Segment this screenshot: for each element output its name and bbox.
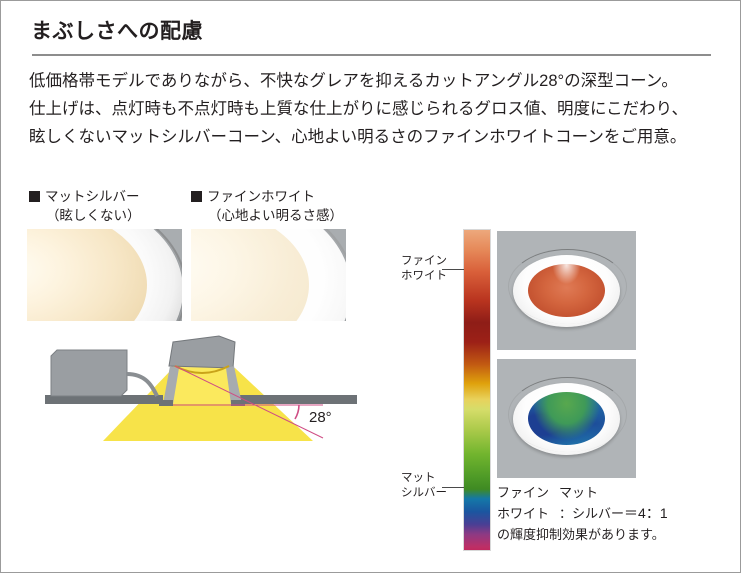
title-divider [32,54,711,56]
page-title: まぶしさへの配慮 [31,15,203,45]
ratio-separator: ： [559,506,572,521]
ratio-note-line-2: ホワイト：シルバー＝4：1 [497,503,732,524]
ratio-note-line-1: ファインマット [497,482,732,503]
lead-line-3: 眩しくないマットシルバーコーン、心地よい明るさのファインホワイトコーンをご用意。 [29,123,719,151]
ratio-col-a-top: ファイン [497,482,559,503]
lead-line-2: 仕上げは、点灯時も不点灯時も上質な仕上がりに感じられるグロス値、明度にこだわり、 [29,95,719,123]
luminance-scale-bar [463,229,491,551]
caption-matte-silver: マットシルバー （眩しくない） [29,187,141,225]
caption-fine-white-label: ファインホワイト [207,189,315,204]
ceiling-slab-right [237,395,357,404]
ratio-value: 4：1 [638,505,668,521]
luminance-photo-fine-white [497,231,636,350]
luminance-photo-matte-silver [497,359,636,478]
scale-label-fine-white-line2: ホワイト [401,269,447,284]
ratio-col-b-bottom: シルバー [572,506,624,521]
caption-fine-white-sublabel: （心地よい明るさ感） [191,206,343,225]
caption-matte-silver-sublabel: （眩しくない） [29,206,141,225]
scale-label-fine-white-line1: ファイン [401,254,447,269]
square-bullet-icon [191,191,202,202]
leader-line-matte-silver [442,487,464,488]
driver-box [51,350,127,396]
leader-line-fine-white [442,269,464,270]
cut-angle-label: 28° [309,409,332,426]
ratio-equals: ＝ [624,505,638,521]
catalog-page: まぶしさへの配慮 低価格帯モデルでありながら、不快なグレアを抑えるカットアングル… [0,0,741,573]
cone-rim-outline [27,229,182,321]
photo-matte-silver-cone [27,229,182,321]
cut-angle-section-diagram: 28° [23,326,378,471]
scale-label-matte-silver-line1: マット [401,471,447,486]
ratio-note-line-3: の輝度抑制効果があります。 [497,524,732,545]
fixture-housing [169,336,235,368]
scale-label-matte-silver: マット シルバー [401,471,447,501]
scale-label-matte-silver-line2: シルバー [401,486,447,501]
caption-fine-white: ファインホワイト （心地よい明るさ感） [191,187,343,225]
scale-label-fine-white: ファイン ホワイト [401,254,447,284]
trim-flange-left [159,400,173,406]
luminance-disc [528,392,605,445]
photo-fine-white-cone [191,229,346,321]
ratio-col-a-bottom: ホワイト [497,503,559,524]
luminance-disc [528,264,605,317]
angle-arc-marker [295,405,299,419]
lead-line-1: 低価格帯モデルでありながら、不快なグレアを抑えるカットアングル28°の深型コーン… [29,67,719,95]
lead-paragraph: 低価格帯モデルでありながら、不快なグレアを抑えるカットアングル28°の深型コーン… [29,67,719,151]
square-bullet-icon [29,191,40,202]
cone-rim-outline [191,229,346,321]
luminance-ratio-note: ファインマット ホワイト：シルバー＝4：1 の輝度抑制効果があります。 [497,482,732,545]
caption-matte-silver-label: マットシルバー [45,189,140,204]
ratio-col-b-top: マット [559,482,598,503]
